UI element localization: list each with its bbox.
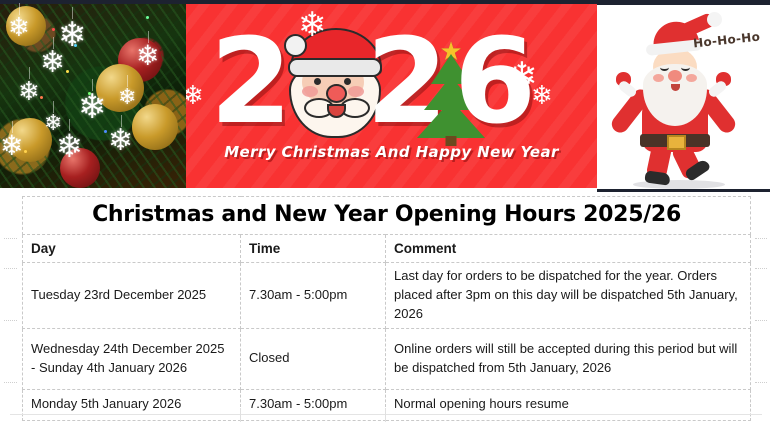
cell-day: Wednesday 24th December 2025 - Sunday 4t… — [23, 328, 241, 389]
cell-day: Tuesday 23rd December 2025 — [23, 263, 241, 329]
cell-time: 7.30am - 5:00pm — [241, 389, 386, 420]
tree-light — [24, 150, 27, 153]
tree-light — [66, 70, 69, 73]
santa-eye — [660, 64, 669, 71]
santa-panel-bottom-bar — [597, 189, 770, 192]
margin-guide-tick — [4, 320, 17, 321]
margin-guide-tick — [755, 238, 767, 239]
ornament-thread — [72, 7, 73, 19]
cell-comment: Normal opening hours resume — [386, 389, 751, 420]
santa-cuff — [707, 79, 728, 99]
snowflake-ornament: ❄ — [118, 86, 136, 108]
ornament-thread — [69, 119, 70, 131]
banner-tagline: Merry Christmas And Happy New Year — [186, 143, 597, 161]
snowflake-decoration-icon: ❄ — [186, 82, 204, 108]
ornament-thread — [53, 101, 54, 113]
margin-guide-tick — [4, 238, 17, 239]
ornament-thread — [121, 115, 122, 127]
new-year-banner: 2 2 ★ — [186, 0, 597, 188]
photo-top-bar — [0, 0, 186, 4]
table-row: Tuesday 23rd December 2025 7.30am - 5:00… — [23, 263, 751, 329]
cell-time: Closed — [241, 328, 386, 389]
christmas-tree-photo: ❄ ❄ ❄ ❄ ❄ ❄ ❄ ❄ ❄ ❄ ❄ — [0, 0, 186, 188]
snowflake-ornament: ❄ — [40, 48, 65, 78]
santa-cheek — [686, 74, 697, 82]
margin-guide-tick — [4, 268, 17, 269]
santa-cheek — [302, 86, 318, 97]
snowflake-ornament: ❄ — [8, 14, 30, 40]
cell-day: Monday 5th January 2026 — [23, 389, 241, 420]
column-header-time: Time — [241, 235, 386, 263]
table-row: Monday 5th January 2026 7.30am - 5:00pm … — [23, 389, 751, 420]
santa-nose — [668, 70, 682, 82]
ornament-thread — [29, 67, 30, 79]
santa-hat-pompom — [707, 12, 722, 27]
tree-light — [52, 28, 55, 31]
margin-guide-tick — [755, 268, 767, 269]
gold-bauble — [132, 104, 178, 150]
year-2026-logo: 2 2 ★ — [186, 20, 597, 138]
opening-hours-table: Christmas and New Year Opening Hours 202… — [22, 196, 751, 421]
santa-eye — [681, 64, 690, 71]
cell-comment: Last day for orders to be dispatched for… — [386, 263, 751, 329]
margin-guide-tick — [4, 382, 17, 383]
santa-eye — [314, 78, 321, 85]
dancing-santa-illustration: Ho-Ho-Ho — [597, 0, 770, 192]
tree-light — [104, 130, 107, 133]
snowflake-decoration-icon: ❄ — [298, 8, 327, 42]
column-header-comment: Comment — [386, 235, 751, 263]
snowflake-ornament: ❄ — [18, 78, 40, 104]
column-header-day: Day — [23, 235, 241, 263]
snowflake-decoration-icon: ❄ — [531, 82, 553, 108]
table-header-row: Day Time Comment — [23, 235, 751, 263]
page-bottom-rule — [10, 414, 762, 415]
page-bottom-tick — [385, 408, 386, 422]
table-head: Christmas and New Year Opening Hours 202… — [23, 197, 751, 263]
santa-belt-buckle — [667, 135, 686, 150]
holiday-banner: ❄ ❄ ❄ ❄ ❄ ❄ ❄ ❄ ❄ ❄ ❄ 2 — [0, 0, 770, 190]
santa-eye — [344, 78, 351, 85]
banner-top-bar — [186, 0, 597, 4]
snowflake-ornament: ❄ — [0, 132, 23, 160]
table-title: Christmas and New Year Opening Hours 202… — [23, 197, 751, 235]
santa-cheek — [348, 86, 364, 97]
snowflake-ornament: ❄ — [78, 90, 107, 124]
snowflake-ornament: ❄ — [56, 130, 83, 162]
ornament-thread — [53, 37, 54, 49]
margin-guide-tick — [755, 320, 767, 321]
ornament-thread — [12, 121, 13, 133]
table-body: Tuesday 23rd December 2025 7.30am - 5:00… — [23, 263, 751, 421]
ornament-thread — [148, 31, 149, 43]
santa-panel-top-bar — [597, 0, 770, 5]
tree-light — [40, 96, 43, 99]
year-digit: 2 — [210, 22, 286, 140]
ornament-thread — [92, 79, 93, 91]
ornament-thread — [19, 3, 20, 15]
table-title-row: Christmas and New Year Opening Hours 202… — [23, 197, 751, 235]
table-row: Wednesday 24th December 2025 - Sunday 4t… — [23, 328, 751, 389]
snowflake-ornament: ❄ — [136, 42, 159, 70]
cell-comment: Online orders will still be accepted dur… — [386, 328, 751, 389]
snowflake-ornament: ❄ — [108, 126, 133, 156]
santa-cheek — [653, 74, 664, 82]
tree-light — [146, 16, 149, 19]
margin-guide-tick — [755, 382, 767, 383]
cell-time: 7.30am - 5:00pm — [241, 263, 386, 329]
ornament-thread — [127, 75, 128, 87]
santa-nose — [326, 84, 347, 103]
page-bottom-tick — [240, 408, 241, 422]
